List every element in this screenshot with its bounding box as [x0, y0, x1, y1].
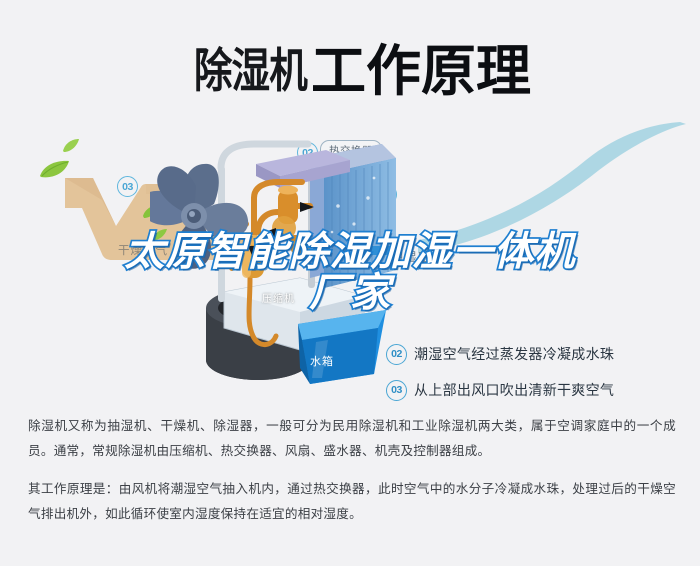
water-tank-label: 水箱 [310, 353, 334, 369]
body-paragraph-2: 其工作原理是：由风机将潮湿空气抽入机内，通过热交换器，此时空气中的水分子冷凝成水… [28, 477, 676, 526]
page-title-part2: 工作原理 [311, 26, 531, 106]
badge-03-diagram: 03 [117, 176, 138, 197]
legend-badge-03: 03 [386, 380, 407, 401]
humid-air-stream-icon [418, 122, 688, 257]
compressor-label: 压缩机 [262, 290, 295, 305]
infographic-page: 除湿机工作原理 [0, 0, 700, 566]
page-title-part1: 除湿机 [194, 32, 307, 101]
legend-item: 03 从上部出风口吹出清新干爽空气 [386, 372, 686, 408]
leaf-icon [38, 158, 72, 187]
diagram-legend: 02 潮湿空气经过蒸发器冷凝成水珠 03 从上部出风口吹出清新干爽空气 [386, 336, 686, 408]
page-title: 除湿机工作原理 [0, 26, 700, 106]
body-copy: 除湿机又称为抽湿机、干燥机、除湿器，一般可分为民用除湿机和工业除湿机两大类，属于… [28, 414, 676, 526]
legend-text-02: 潮湿空气经过蒸发器冷凝成水珠 [414, 344, 614, 364]
legend-text-03: 从上部出风口吹出清新干爽空气 [414, 380, 614, 400]
legend-badge-02: 02 [386, 344, 407, 365]
leaf-icon [62, 138, 80, 159]
body-paragraph-1: 除湿机又称为抽湿机、干燥机、除湿器，一般可分为民用除湿机和工业除湿机两大类，属于… [28, 414, 676, 463]
dehumidifier-machine-illustration [150, 128, 420, 396]
legend-item: 02 潮湿空气经过蒸发器冷凝成水珠 [386, 336, 686, 372]
dehumidifier-diagram: 干燥空气 03 潮湿空气 01 02 热交换器 [0, 118, 700, 396]
